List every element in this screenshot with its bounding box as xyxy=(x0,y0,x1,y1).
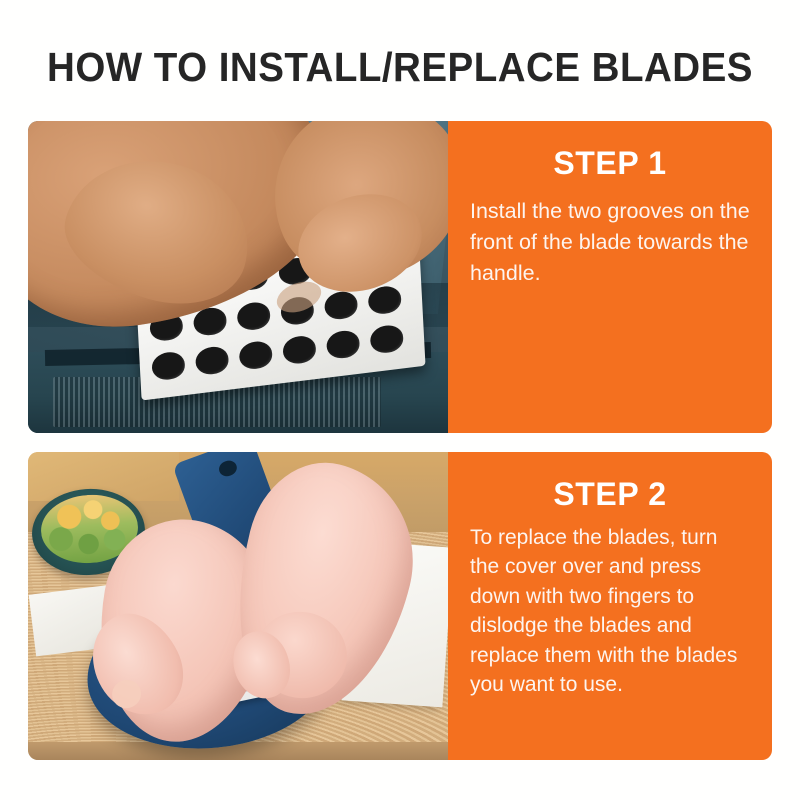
blade-hole xyxy=(368,284,402,315)
blade-hole xyxy=(283,334,317,365)
step-2-body: To replace the blades, turn the cover ov… xyxy=(470,523,750,699)
blade-hole xyxy=(151,350,185,381)
step-1-text-block: STEP 1 Install the two grooves on the fr… xyxy=(448,121,772,433)
page-title: HOW TO INSTALL/REPLACE BLADES xyxy=(24,44,776,91)
blade-hole xyxy=(324,289,358,320)
step-1-photo xyxy=(28,121,448,433)
blade-hole xyxy=(370,323,404,354)
step-panel-2: STEP 2 To replace the blades, turn the c… xyxy=(28,452,772,760)
blade-hole xyxy=(239,339,273,370)
step-1-body: Install the two grooves on the front of … xyxy=(470,196,750,290)
blade-hole xyxy=(237,300,271,331)
step-panel-1: STEP 1 Install the two grooves on the fr… xyxy=(28,121,772,433)
blade-hole xyxy=(327,329,361,360)
step-2-photo xyxy=(28,452,448,760)
step-2-heading: STEP 2 xyxy=(553,476,666,513)
infographic-page: HOW TO INSTALL/REPLACE BLADES xyxy=(0,0,800,800)
step-1-heading: STEP 1 xyxy=(553,145,666,182)
step-2-text-block: STEP 2 To replace the blades, turn the c… xyxy=(448,452,772,760)
blade-hole xyxy=(195,345,229,376)
